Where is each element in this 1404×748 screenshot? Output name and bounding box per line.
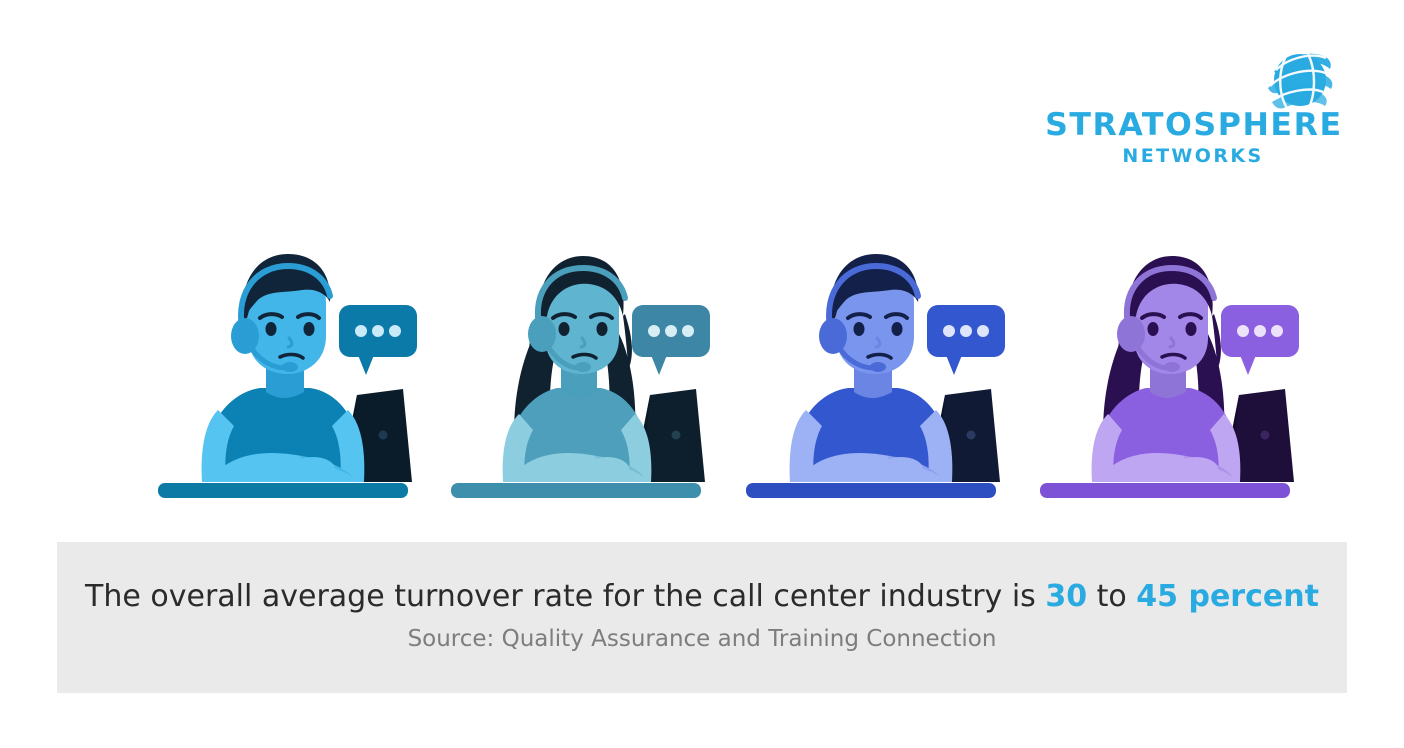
chat-dots-icon <box>1221 305 1299 375</box>
chat-dots-icon <box>339 305 417 375</box>
caption-headline: The overall average turnover rate for th… <box>57 579 1347 614</box>
caption-source: Source: Quality Assurance and Training C… <box>57 626 1347 652</box>
chat-dots-icon <box>927 305 1005 375</box>
stat-high: 45 percent <box>1136 579 1319 614</box>
logo-wordmark-main: STRATOSPHERE <box>1045 110 1341 141</box>
agent-illustration-1 <box>150 250 450 505</box>
call-center-agents-row <box>0 250 1404 505</box>
agent-illustration-3 <box>738 250 1038 505</box>
stat-low: 30 <box>1045 579 1087 614</box>
brand-logo: STRATOSPHERE NETWORKS <box>1040 42 1340 162</box>
caption-prefix: The overall average turnover rate for th… <box>85 579 1045 614</box>
caption-banner: The overall average turnover rate for th… <box>57 542 1347 693</box>
agent-illustration-4 <box>1032 250 1332 505</box>
logo-wordmark-sub: NETWORKS <box>1048 147 1338 166</box>
agent-illustration-2 <box>443 250 743 505</box>
logo-wordmark: STRATOSPHERE NETWORKS <box>1048 110 1338 166</box>
caption-connector: to <box>1087 579 1136 614</box>
chat-dots-icon <box>632 305 710 375</box>
